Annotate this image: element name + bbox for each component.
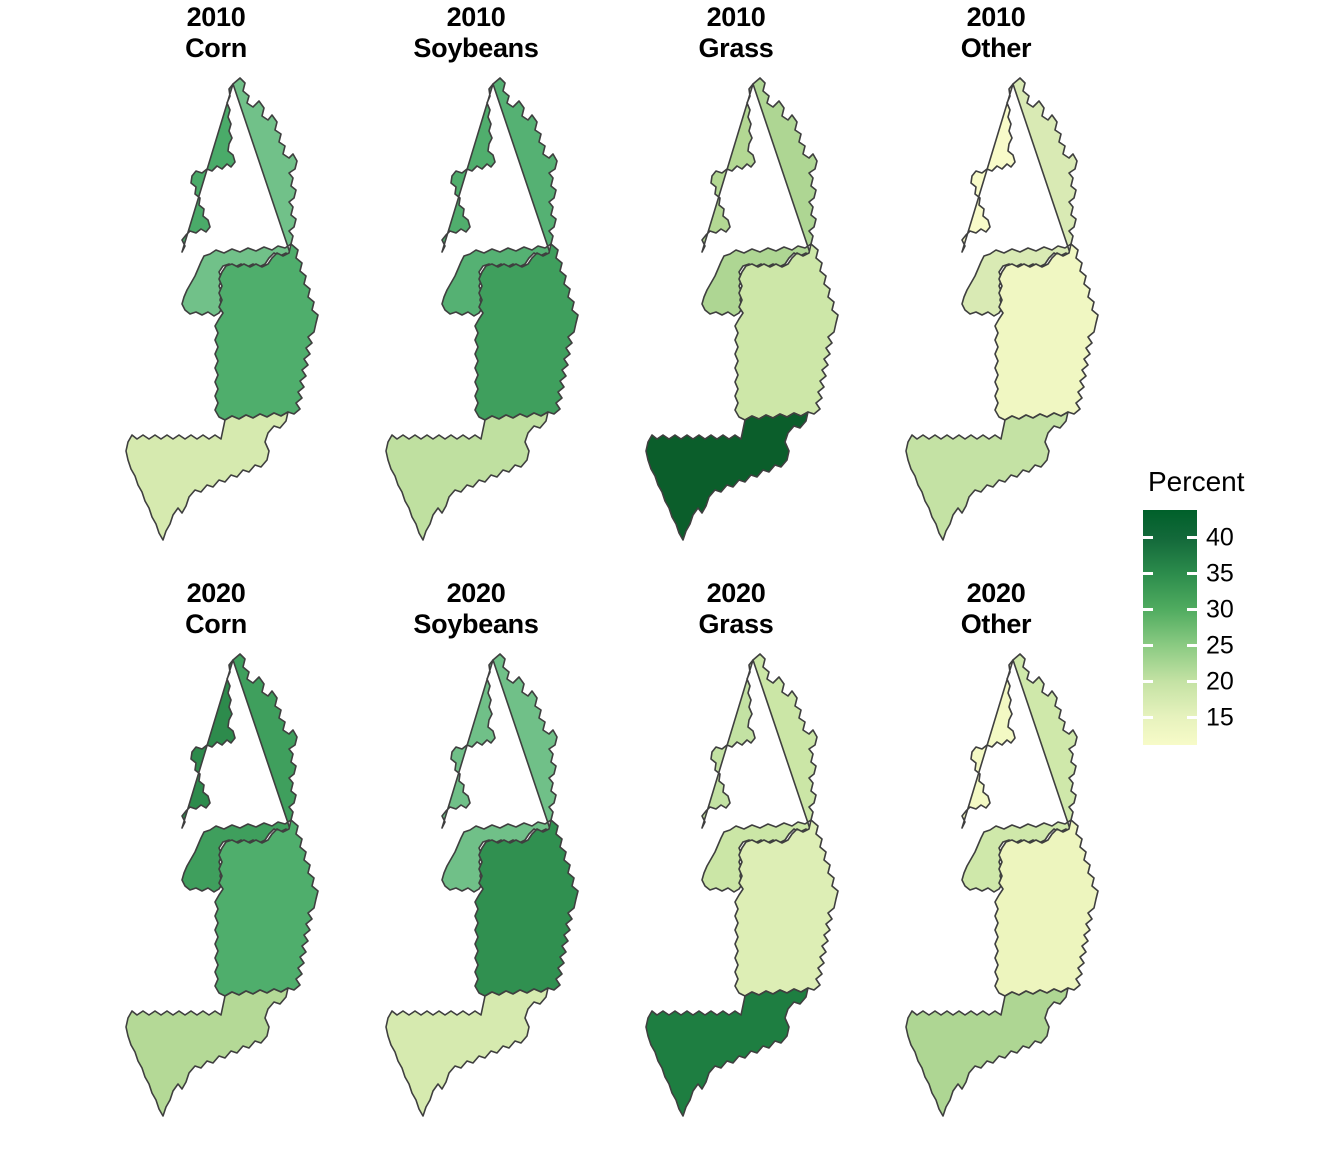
legend-title: Percent — [1148, 466, 1245, 498]
subwatershed-northwest[interactable]: northwest: 24.5% — [702, 84, 755, 252]
panel-title-category: Corn — [86, 33, 346, 64]
panel-title-category: Corn — [86, 609, 346, 640]
panel-title: 2020Corn — [86, 578, 346, 640]
legend-colorbar — [1143, 510, 1197, 745]
legend-tick-label: 20 — [1206, 667, 1234, 696]
watershed-map: north: 24.5%northwest: 24.5%central: 21%… — [606, 70, 866, 570]
legend-tick-label: 25 — [1206, 631, 1234, 660]
legend-tick-mark — [1187, 608, 1197, 611]
watershed-map: north: 19%northwest: 13%central: 14%sout… — [866, 70, 1126, 570]
subwatershed-south[interactable]: south: 22% — [386, 412, 548, 540]
legend-tick-label: 40 — [1206, 523, 1234, 552]
panel-title: 2010Soybeans — [346, 2, 606, 64]
map-area: north: 21%northwest: 22.5%central: 19.5%… — [606, 646, 866, 1146]
subwatershed-northwest[interactable]: northwest: 31% — [442, 660, 495, 828]
map-area: north: 31%northwest: 31%central: 38.5%so… — [346, 646, 606, 1146]
map-panel-2020-soybeans: 2020Soybeansnorth: 31%northwest: 31%cent… — [346, 576, 606, 1152]
subwatershed-central[interactable]: central: 34% — [215, 244, 318, 420]
panel-title: 2020Other — [866, 578, 1126, 640]
panel-title-category: Other — [866, 609, 1126, 640]
panel-title-year: 2020 — [447, 578, 506, 608]
panel-title-category: Grass — [606, 33, 866, 64]
legend-tick-label: 30 — [1206, 595, 1234, 624]
panel-title: 2010Corn — [86, 2, 346, 64]
panel-title-year: 2010 — [187, 2, 246, 32]
subwatershed-south[interactable]: south: 39.5% — [646, 988, 808, 1116]
map-panel-2010-corn: 2010Cornnorth: 30.5%northwest: 34.5%cent… — [86, 0, 346, 576]
subwatershed-central[interactable]: central: 34% — [215, 820, 318, 996]
watershed-map: north: 33%northwest: 33.5%central: 36.5%… — [346, 70, 606, 570]
watershed-map: north: 21.5%northwest: 14.5%central: 16.… — [866, 646, 1126, 1146]
subwatershed-south[interactable]: south: 24% — [906, 988, 1068, 1116]
panel-title-year: 2020 — [187, 578, 246, 608]
legend-tick-mark — [1143, 536, 1153, 539]
map-area: north: 33%northwest: 33.5%central: 36.5%… — [346, 70, 606, 570]
subwatershed-central[interactable]: central: 38.5% — [475, 820, 578, 996]
panel-title-category: Soybeans — [346, 609, 606, 640]
map-panel-2010-grass: 2010Grassnorth: 24.5%northwest: 24.5%cen… — [606, 0, 866, 576]
map-area: north: 21.5%northwest: 14.5%central: 16.… — [866, 646, 1126, 1146]
legend-tick-label: 15 — [1206, 703, 1234, 732]
subwatershed-northwest[interactable]: northwest: 22.5% — [702, 660, 755, 828]
panel-title: 2020Soybeans — [346, 578, 606, 640]
panel-title-year: 2010 — [967, 2, 1026, 32]
watershed-map: north: 31%northwest: 31%central: 38.5%so… — [346, 646, 606, 1146]
subwatershed-central[interactable]: central: 14% — [995, 244, 1098, 420]
legend-tick-label: 35 — [1206, 559, 1234, 588]
panel-title-year: 2020 — [707, 578, 766, 608]
subwatershed-northwest[interactable]: northwest: 14.5% — [962, 660, 1015, 828]
panel-title-category: Soybeans — [346, 33, 606, 64]
map-area: north: 19%northwest: 13%central: 14%sout… — [866, 70, 1126, 570]
map-area: north: 24.5%northwest: 24.5%central: 21%… — [606, 70, 866, 570]
subwatershed-south[interactable]: south: 24.5% — [126, 988, 288, 1116]
panel-title: 2010Other — [866, 2, 1126, 64]
subwatershed-south[interactable]: south: 21.5% — [906, 412, 1068, 540]
subwatershed-northwest[interactable]: northwest: 34.5% — [182, 84, 235, 252]
watershed-map: north: 30.5%northwest: 34.5%central: 34%… — [86, 70, 346, 570]
subwatershed-northwest[interactable]: northwest: 39.5% — [182, 660, 235, 828]
subwatershed-central[interactable]: central: 21% — [735, 244, 838, 420]
map-panel-2020-grass: 2020Grassnorth: 21%northwest: 22.5%centr… — [606, 576, 866, 1152]
panel-title-year: 2010 — [447, 2, 506, 32]
figure-canvas: 2010Cornnorth: 30.5%northwest: 34.5%cent… — [0, 0, 1344, 1152]
legend-tick-mark — [1143, 716, 1153, 719]
legend: Percent 403530252015 — [1140, 466, 1340, 756]
subwatershed-northwest[interactable]: northwest: 13% — [962, 84, 1015, 252]
map-panel-2010-soybeans: 2010Soybeansnorth: 33%northwest: 33.5%ce… — [346, 0, 606, 576]
legend-tick-mark — [1187, 680, 1197, 683]
legend-gradient — [1143, 510, 1197, 745]
panel-title-category: Other — [866, 33, 1126, 64]
panel-title: 2010Grass — [606, 2, 866, 64]
map-area: north: 36.5%northwest: 39.5%central: 34%… — [86, 646, 346, 1146]
subwatershed-central[interactable]: central: 19.5% — [735, 820, 838, 996]
subwatershed-central[interactable]: central: 36.5% — [475, 244, 578, 420]
map-panel-2020-corn: 2020Cornnorth: 36.5%northwest: 39.5%cent… — [86, 576, 346, 1152]
panel-title-category: Grass — [606, 609, 866, 640]
subwatershed-central[interactable]: central: 16.5% — [995, 820, 1098, 996]
legend-tick-mark — [1143, 608, 1153, 611]
legend-tick-mark — [1187, 536, 1197, 539]
subwatershed-south[interactable]: south: 19.5% — [126, 412, 288, 540]
panel-title-year: 2010 — [707, 2, 766, 32]
map-panel-2010-other: 2010Othernorth: 19%northwest: 13%central… — [866, 0, 1126, 576]
panel-title: 2020Grass — [606, 578, 866, 640]
panel-title-year: 2020 — [967, 578, 1026, 608]
subwatershed-northwest[interactable]: northwest: 33.5% — [442, 84, 495, 252]
legend-tick-mark — [1187, 716, 1197, 719]
subwatershed-south[interactable]: south: 20.5% — [386, 988, 548, 1116]
legend-tick-mark — [1187, 644, 1197, 647]
watershed-map: north: 36.5%northwest: 39.5%central: 34%… — [86, 646, 346, 1146]
legend-tick-mark — [1143, 680, 1153, 683]
legend-tick-mark — [1143, 572, 1153, 575]
legend-tick-mark — [1143, 644, 1153, 647]
watershed-map: north: 21%northwest: 22.5%central: 19.5%… — [606, 646, 866, 1146]
map-area: north: 30.5%northwest: 34.5%central: 34%… — [86, 70, 346, 570]
legend-tick-mark — [1187, 572, 1197, 575]
map-panel-2020-other: 2020Othernorth: 21.5%northwest: 14.5%cen… — [866, 576, 1126, 1152]
subwatershed-south[interactable]: south: 43% — [646, 412, 808, 540]
